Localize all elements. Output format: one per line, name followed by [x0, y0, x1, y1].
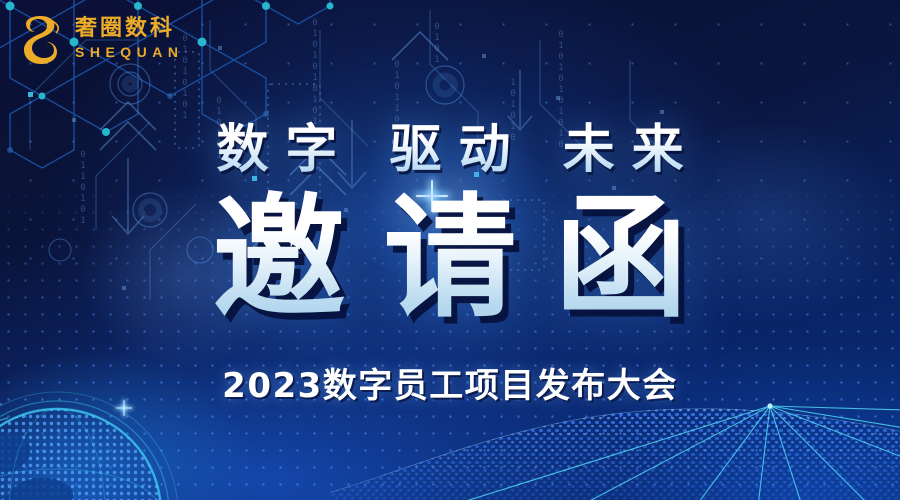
page-title: 邀请函 — [0, 190, 900, 330]
subtitle-text: 2023数字员工项目发布大会 — [0, 358, 900, 407]
headline-content: 数字 驱动 未来 邀请函 2023数字员工项目发布大会 — [0, 0, 900, 500]
tagline-text: 数字 驱动 未来 — [0, 107, 900, 182]
invitation-poster: 01010101 010101 0101010101 01011010 0101… — [0, 0, 900, 500]
